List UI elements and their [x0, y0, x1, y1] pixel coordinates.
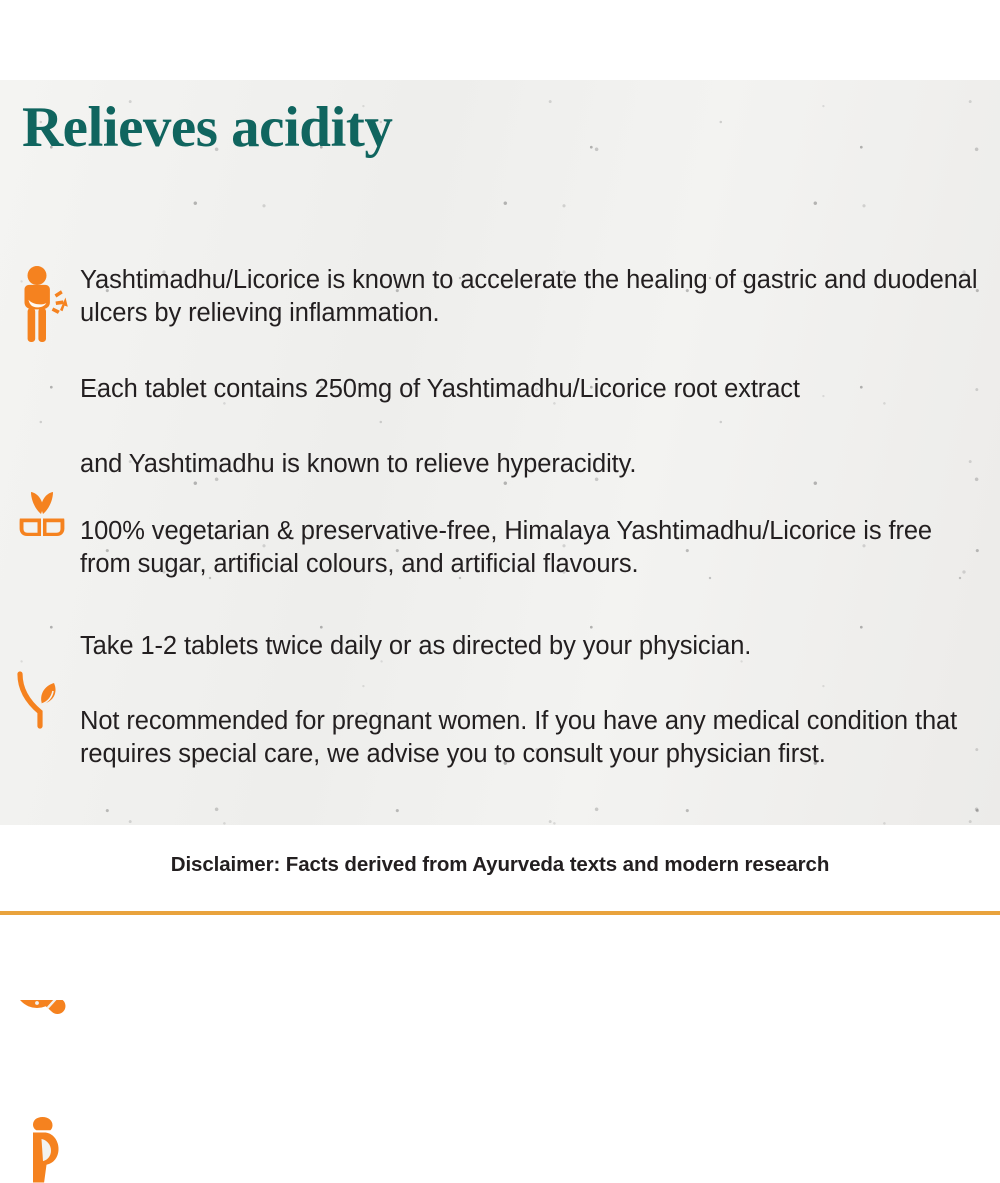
list-item: Each tablet contains 250mg of Yashtimadh…: [0, 373, 1000, 406]
list-item-text: 100% vegetarian & preservative-free, Him…: [80, 515, 985, 581]
list-item: Not recommended for pregnant women. If y…: [0, 705, 1000, 771]
disclaimer-band: Disclaimer: Facts derived from Ayurveda …: [0, 825, 1000, 913]
list-item-text: Not recommended for pregnant women. If y…: [80, 705, 985, 771]
list-item: 100% vegetarian & preservative-free, Him…: [0, 515, 1000, 581]
list-item-text: Yashtimadhu/Licorice is known to acceler…: [80, 264, 985, 330]
list-item-text: and Yashtimadhu is known to relieve hype…: [80, 448, 985, 481]
list-item: Yashtimadhu/Licorice is known to acceler…: [0, 264, 1000, 330]
list-item: and Yashtimadhu is known to relieve hype…: [0, 448, 1000, 481]
pregnant-woman-icon: [14, 1115, 74, 1183]
disclaimer-text: Disclaimer: Facts derived from Ayurveda …: [0, 853, 1000, 877]
list-item: Take 1-2 tablets twice daily or as direc…: [0, 630, 1000, 663]
footer-whitespace: [0, 915, 1000, 1000]
list-item-text: Take 1-2 tablets twice daily or as direc…: [80, 630, 985, 663]
infographic-page: Relieves acidity: [0, 0, 1000, 1000]
page-title: Relieves acidity: [22, 98, 392, 158]
list-item-text: Each tablet contains 250mg of Yashtimadh…: [80, 373, 985, 406]
